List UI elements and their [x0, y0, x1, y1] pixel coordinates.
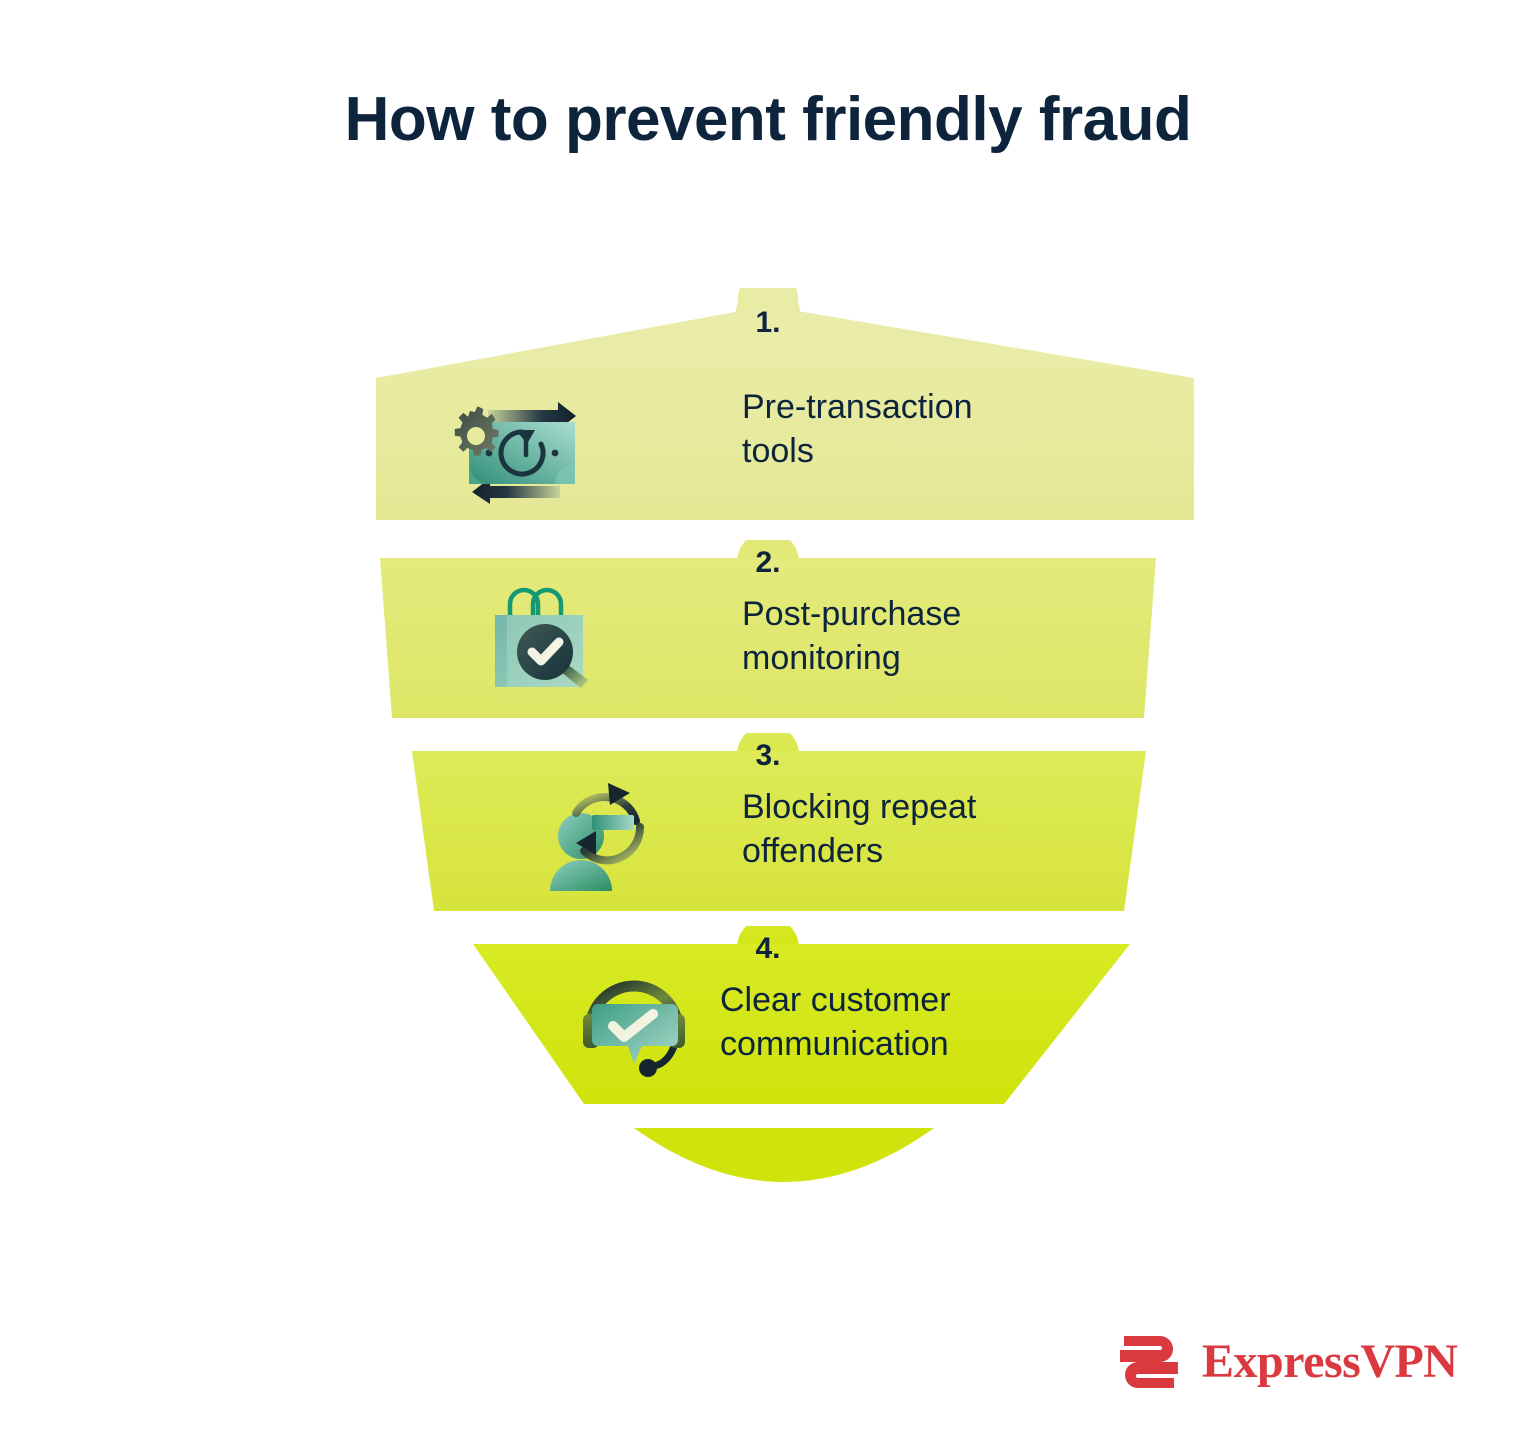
- expressvpn-logo: ExpressVPN: [1112, 1330, 1457, 1394]
- funnel-step-4-label: Clear customer communication: [720, 978, 951, 1066]
- funnel-tip: [0, 1128, 1536, 1228]
- funnel-step-1-number: 1.: [728, 306, 808, 340]
- headset-chat-check-icon: [580, 958, 696, 1085]
- user-block-cycle-icon: [548, 771, 666, 898]
- funnel-step-3: 3.: [0, 733, 1536, 933]
- funnel-step-1: 1.: [0, 288, 1536, 533]
- funnel-tip-shape: [0, 1128, 1536, 1228]
- shopping-bag-magnifier-check-icon: [483, 582, 609, 703]
- money-refresh-gear-icon: [442, 392, 602, 509]
- funnel-step-4: 4.: [0, 926, 1536, 1136]
- expressvpn-wordmark: ExpressVPN: [1202, 1338, 1457, 1386]
- funnel-diagram: 1.: [0, 288, 1536, 1218]
- funnel-step-3-number: 3.: [728, 739, 808, 773]
- funnel-step-2-number: 2.: [728, 546, 808, 580]
- infographic-page: How to prevent friendly fraud 1.: [0, 0, 1536, 1454]
- expressvpn-logo-icon: [1112, 1330, 1186, 1394]
- funnel-step-2-label: Post-purchase monitoring: [742, 592, 961, 680]
- funnel-step-2: 2.: [0, 540, 1536, 740]
- page-title: How to prevent friendly fraud: [0, 86, 1536, 154]
- funnel-step-4-number: 4.: [728, 932, 808, 966]
- funnel-step-1-label: Pre-transaction tools: [742, 385, 973, 473]
- funnel-step-3-label: Blocking repeat offenders: [742, 785, 976, 873]
